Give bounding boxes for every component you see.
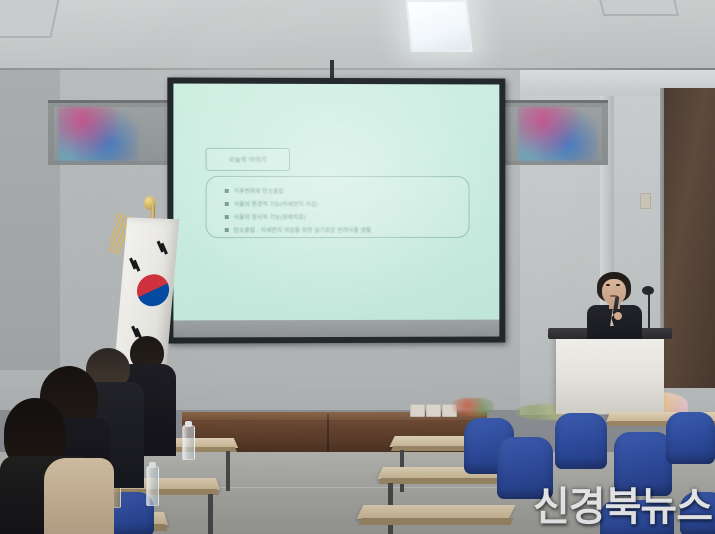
chair[interactable] bbox=[666, 412, 715, 464]
projection-screen: 오늘의 이야기 기후변화와 탄소중립 식물의 환경적 기능(미세먼지 저감) 식… bbox=[167, 77, 505, 343]
wooden-door[interactable] bbox=[664, 88, 715, 388]
water-bottle[interactable] bbox=[182, 425, 195, 460]
slide-title-box: 오늘의 이야기 bbox=[206, 148, 290, 171]
slide-bullet-text: 식물의 환경적 기능(미세먼지 저감) bbox=[234, 199, 318, 207]
power-outlet[interactable] bbox=[426, 404, 441, 417]
slide-title-text: 오늘의 이야기 bbox=[229, 155, 267, 164]
bottle-cap bbox=[185, 421, 192, 427]
bullet-marker-icon bbox=[225, 228, 229, 232]
microphone-stand bbox=[648, 292, 650, 332]
slide-surface: 오늘의 이야기 기후변화와 탄소중립 식물의 환경적 기능(미세먼지 저감) 식… bbox=[173, 84, 499, 321]
podium bbox=[556, 336, 664, 414]
chair[interactable] bbox=[555, 413, 607, 469]
slide-bullet-text: 기후변화와 탄소중립 bbox=[234, 186, 284, 194]
bullet-marker-icon bbox=[225, 188, 229, 192]
screen-bottom-bar bbox=[173, 320, 499, 338]
slide-bullet-text: 식물의 정서적 기능(원예치료) bbox=[234, 213, 306, 221]
speaker-eye bbox=[616, 284, 620, 286]
water-bottle[interactable] bbox=[146, 466, 159, 506]
audience-member bbox=[44, 440, 114, 534]
floor-tile-line bbox=[185, 487, 525, 488]
power-outlet[interactable] bbox=[410, 404, 425, 417]
bottle-cap bbox=[149, 462, 156, 468]
slide-bullet-list: 기후변화와 탄소중립 식물의 환경적 기능(미세먼지 저감) 식물의 정서적 기… bbox=[206, 176, 470, 238]
ceiling-light-panel-lit bbox=[405, 0, 472, 52]
slide-bullet-text: 탄소중립 · 미세먼지 저감을 위한 실기로운 반려식물 생활 bbox=[234, 225, 372, 233]
news-watermark: 신경북뉴스 bbox=[533, 474, 712, 532]
desk-edge bbox=[358, 518, 513, 525]
lecture-hall-photo: 202 오늘의 이야기 기후변화와 탄소중립 식물의 환경적 기능(미세먼지 저… bbox=[0, 0, 715, 534]
audience-shoulder bbox=[44, 458, 114, 534]
slide-bullet-item: 식물의 정서적 기능(원예치료) bbox=[225, 210, 469, 223]
slide-bullet-item: 기후변화와 탄소중립 bbox=[225, 184, 469, 197]
ceiling-light-panel bbox=[0, 0, 61, 38]
speaker-hand bbox=[614, 312, 622, 320]
bullet-marker-icon bbox=[225, 215, 229, 219]
desk-edge bbox=[379, 478, 514, 484]
slide-bullet-item: 탄소중립 · 미세먼지 저감을 위한 실기로운 반려식물 생활 bbox=[225, 223, 469, 236]
chair-backrest bbox=[666, 412, 715, 464]
desk bbox=[357, 505, 516, 519]
desk-leg bbox=[208, 494, 213, 534]
light-switch[interactable] bbox=[640, 193, 651, 209]
taeguk-symbol-icon bbox=[132, 269, 174, 312]
speaker-eye bbox=[606, 284, 610, 286]
flower-arrangement bbox=[452, 398, 494, 416]
speaker-person bbox=[583, 272, 645, 338]
slide-bullet-item: 식물의 환경적 기능(미세먼지 저감) bbox=[225, 197, 469, 210]
chair-backrest bbox=[555, 413, 607, 469]
desk-leg bbox=[226, 451, 230, 491]
bullet-marker-icon bbox=[225, 201, 229, 205]
stage-seam bbox=[327, 414, 329, 453]
ceiling-light-panel bbox=[597, 0, 679, 16]
